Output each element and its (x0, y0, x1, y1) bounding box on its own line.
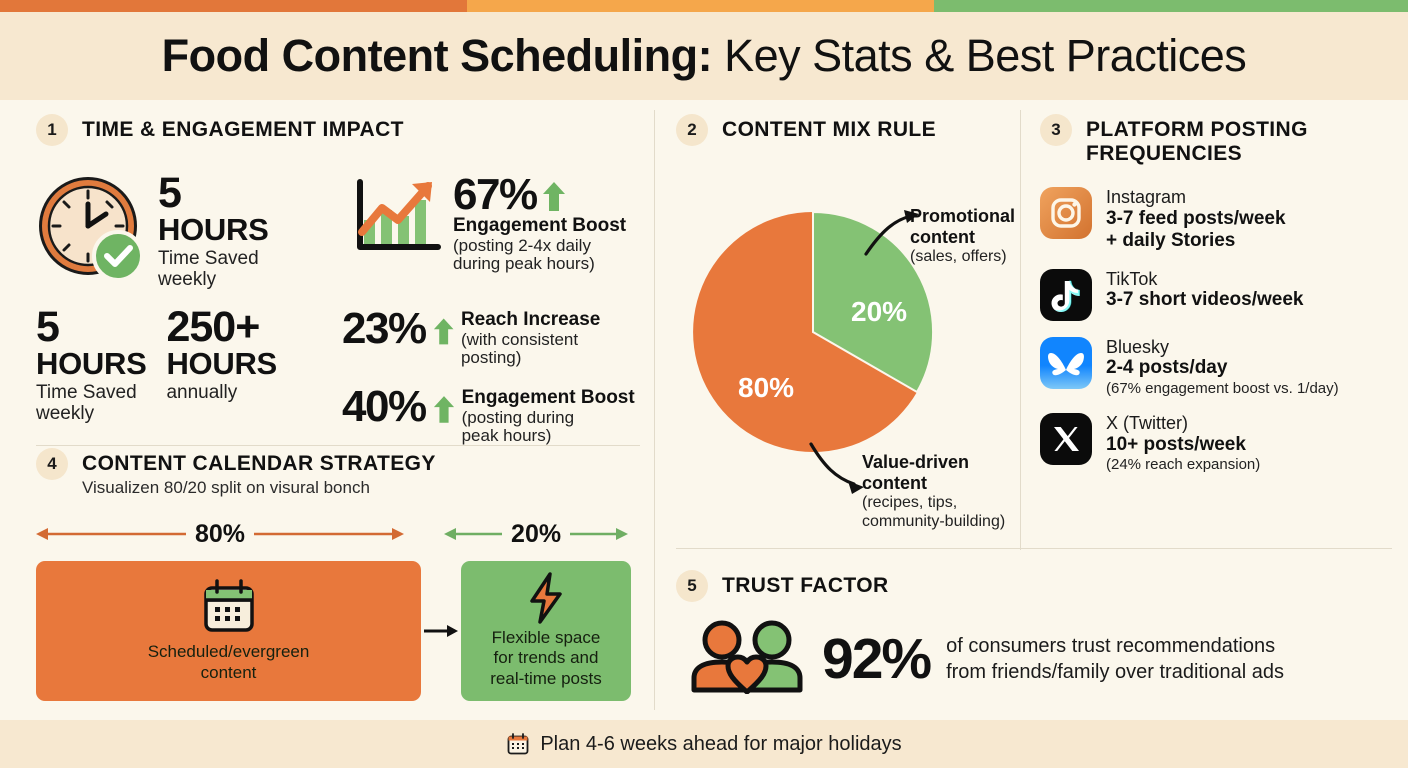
stat-40-note-l1: (posting during (462, 408, 574, 427)
growth-chart-icon (342, 174, 446, 260)
callout-promotional-note: (sales, offers) (910, 248, 1030, 266)
stat-number: 5 (158, 174, 268, 214)
stat-67-row: 67% Engagement Boost (posting 2-4x daily… (342, 174, 638, 273)
platform-note: (24% reach expansion) (1106, 456, 1260, 473)
stat-23-row: 23% Reach Increase (with consistent post… (342, 308, 638, 368)
stat-23-note: (with consistent posting) (461, 331, 638, 368)
footer-bar: Plan 4-6 weeks ahead for major holidays (0, 720, 1408, 768)
callout-value-l1: Value-driven (862, 452, 969, 472)
section2-badge: 2 (676, 114, 708, 146)
platform-name: Instagram (1106, 187, 1286, 208)
up-arrow-icon (433, 316, 454, 346)
stat-40-note-l2: peak hours) (462, 426, 552, 445)
section2-title: CONTENT MIX RULE (722, 114, 936, 142)
up-arrow-icon (542, 180, 566, 212)
platform-freq: 3-7 short videos/week (1106, 289, 1303, 311)
stat-67-note: (posting 2-4x daily during peak hours) (453, 237, 626, 274)
section-content-calendar: 4 CONTENT CALENDAR STRATEGY Visualizen 8… (36, 448, 640, 701)
callout-value-note-l2: community-building) (862, 513, 1005, 530)
platform-name: Bluesky (1106, 337, 1339, 358)
lightning-bolt-icon (524, 572, 568, 624)
up-arrow-icon (433, 394, 455, 424)
trust-percentage: 92% (822, 631, 930, 688)
pie-label-80: 80% (738, 372, 794, 404)
stat-hours-weekly: 5 HOURS Time Saved weekly (36, 308, 146, 424)
section5-badge: 5 (676, 570, 708, 602)
box-right-line3: real-time posts (490, 669, 601, 688)
footer-text: Plan 4-6 weeks ahead for major holidays (540, 733, 901, 756)
box-right-text: Flexible space for trends and real-time … (490, 628, 601, 689)
section1-row-bottom: 5 HOURS Time Saved weekly 250+ HOURS ann… (36, 308, 640, 445)
arrow-20-group: 20% (444, 520, 640, 549)
stat-40-label: Engagement Boost (462, 388, 635, 409)
callout-value-note-l1: (recipes, tips, (862, 494, 957, 511)
callout-value-driven: Value-driven content (recipes, tips, com… (862, 452, 1028, 531)
section3-title: PLATFORM POSTING FREQUENCIES (1086, 114, 1308, 165)
split-pct-80: 80% (186, 520, 254, 549)
trust-row: 92% of consumers trust recommendations f… (676, 620, 1392, 699)
x-twitter-icon (1040, 413, 1092, 465)
section1-header: 1 TIME & ENGAGEMENT IMPACT (36, 114, 640, 146)
platform-freq-l1: 3-7 feed posts/week (1106, 208, 1286, 229)
box-left-line1: Scheduled/evergreen (148, 642, 310, 661)
list-item[interactable]: Instagram 3-7 feed posts/week + daily St… (1040, 187, 1392, 253)
stat-desc-line1: Time Saved (158, 248, 259, 269)
arrow-left-orange-icon (36, 526, 186, 542)
clock-check-icon (36, 174, 154, 284)
stat-desc-line1: annually (166, 382, 237, 403)
box-left-text: Scheduled/evergreen content (148, 642, 310, 683)
stat-number: 5 (36, 308, 146, 348)
stat-desc: Time Saved weekly (158, 248, 268, 291)
divider-horizontal-right (676, 548, 1392, 549)
accent-segment-orange-light (467, 0, 934, 12)
platform-freq: 3-7 feed posts/week + daily Stories (1106, 208, 1286, 253)
box-right-line2: for trends and (494, 648, 599, 667)
platform-text: TikTok 3-7 short videos/week (1106, 269, 1303, 312)
bluesky-icon (1040, 337, 1092, 389)
instagram-icon (1040, 187, 1092, 239)
platform-list: Instagram 3-7 feed posts/week + daily St… (1040, 187, 1392, 473)
stat-40-text: Engagement Boost (posting during peak ho… (462, 386, 635, 446)
list-item[interactable]: Bluesky 2-4 posts/day (67% engagement bo… (1040, 337, 1392, 397)
stat-67-text: 67% Engagement Boost (posting 2-4x daily… (453, 174, 626, 273)
section3-title-l1: PLATFORM POSTING (1086, 118, 1308, 141)
section4-header: 4 CONTENT CALENDAR STRATEGY Visualizen 8… (36, 448, 640, 498)
stat-23-pct: 23% (342, 308, 426, 350)
arrow-right-green-icon (570, 526, 628, 542)
platform-freq: 2-4 posts/day (1106, 357, 1339, 379)
section3-header: 3 PLATFORM POSTING FREQUENCIES (1040, 114, 1392, 165)
stat-desc-line1: Time Saved (36, 382, 137, 403)
calendar-icon (200, 578, 258, 636)
stat-67-label: Engagement Boost (453, 216, 626, 237)
stat-unit: HOURS (158, 214, 268, 245)
divider-vertical-left (654, 110, 655, 710)
page-title-light: Key Stats & Best Practices (712, 30, 1246, 81)
top-accent-bar (0, 0, 1408, 12)
callout-value-note: (recipes, tips, community-building) (862, 494, 1028, 531)
split-pct-20: 20% (502, 520, 570, 549)
stat-23-text: Reach Increase (with consistent posting) (461, 308, 638, 368)
accent-segment-orange-dark (0, 0, 467, 12)
trust-desc-l1: of consumers trust recommendations (946, 635, 1275, 657)
pie-label-20: 20% (851, 296, 907, 328)
stat-hours-weekly-primary: 5 HOURS Time Saved weekly (158, 174, 268, 290)
tiktok-icon (1040, 269, 1092, 321)
section5-header: 5 TRUST FACTOR (676, 570, 1392, 602)
section-trust-factor: 5 TRUST FACTOR 92% of consumers trust re… (676, 570, 1392, 699)
stat-unit: HOURS (166, 348, 276, 379)
callout-value-l2: content (862, 473, 927, 493)
arrow-80-group: 80% (36, 520, 404, 549)
section3-badge: 3 (1040, 114, 1072, 146)
platform-freq: 10+ posts/week (1106, 434, 1260, 456)
list-item[interactable]: TikTok 3-7 short videos/week (1040, 269, 1392, 321)
platform-name: TikTok (1106, 269, 1303, 290)
section-time-engagement: 1 TIME & ENGAGEMENT IMPACT (36, 114, 640, 445)
section4-badge: 4 (36, 448, 68, 480)
platform-text: Bluesky 2-4 posts/day (67% engagement bo… (1106, 337, 1339, 397)
flow-arrow (421, 621, 461, 641)
stat-desc: annually (166, 382, 276, 403)
platform-name: X (Twitter) (1106, 413, 1260, 434)
list-item[interactable]: X (Twitter) 10+ posts/week (24% reach ex… (1040, 413, 1392, 473)
split-arrow-row: 80% 20% (36, 520, 640, 549)
people-heart-icon (688, 620, 806, 699)
section-platform-frequencies: 3 PLATFORM POSTING FREQUENCIES (1040, 114, 1392, 489)
section-content-mix: 2 CONTENT MIX RULE 20% 80% (676, 114, 1006, 534)
arrow-right-icon (424, 621, 458, 641)
engagement-boost-group: 67% Engagement Boost (posting 2-4x daily… (318, 174, 638, 290)
section2-header: 2 CONTENT MIX RULE (676, 114, 1006, 146)
platform-text: Instagram 3-7 feed posts/week + daily St… (1106, 187, 1286, 253)
stat-unit: HOURS (36, 348, 146, 379)
section1-title: TIME & ENGAGEMENT IMPACT (82, 114, 404, 142)
page-title-bold: Food Content Scheduling: (162, 30, 712, 81)
callout-promotional: Promotional content (sales, offers) (910, 206, 1030, 267)
box-left-line2: content (201, 663, 257, 682)
platform-text: X (Twitter) 10+ posts/week (24% reach ex… (1106, 413, 1260, 473)
platform-note: (67% engagement boost vs. 1/day) (1106, 380, 1339, 397)
callout-promotional-l2: content (910, 227, 975, 247)
trust-desc-l2: from friends/family over traditional ads (946, 661, 1284, 683)
page-title: Food Content Scheduling: Key Stats & Bes… (162, 30, 1247, 82)
calendar-icon (506, 732, 530, 756)
clock-stat-group: 5 HOURS Time Saved weekly (36, 174, 318, 290)
box-right-line1: Flexible space (492, 628, 601, 647)
stat-23-label: Reach Increase (461, 310, 638, 331)
section3-title-l2: FREQUENCIES (1086, 142, 1242, 165)
split-boxes-row: Scheduled/evergreen content Flexi (36, 561, 640, 701)
reach-engagement-group: 23% Reach Increase (with consistent post… (318, 308, 638, 445)
stat-desc-line2: weekly (158, 269, 216, 290)
arrow-left-green-icon (444, 526, 502, 542)
trust-description: of consumers trust recommendations from … (946, 634, 1284, 685)
box-flexible-space: Flexible space for trends and real-time … (461, 561, 631, 701)
pie-chart: 20% 80% Promotional content (sales, offe… (676, 154, 1016, 534)
section4-heading-text: CONTENT CALENDAR STRATEGY Visualizen 80/… (82, 448, 436, 498)
stat-desc: Time Saved weekly (36, 382, 146, 425)
stat-40-pct: 40% (342, 386, 426, 428)
section5-title: TRUST FACTOR (722, 570, 889, 598)
stat-67-pct: 67% (453, 174, 537, 216)
main-content: 1 TIME & ENGAGEMENT IMPACT (0, 100, 1408, 720)
stat-67-note-l1: (posting 2-4x daily (453, 236, 591, 255)
stat-hours-annual: 250+ HOURS annually (166, 308, 276, 424)
hours-stats-group: 5 HOURS Time Saved weekly 250+ HOURS ann… (36, 308, 318, 424)
stat-desc-line2: weekly (36, 403, 94, 424)
stat-40-note: (posting during peak hours) (462, 409, 635, 446)
section1-row-top: 5 HOURS Time Saved weekly (36, 174, 640, 290)
infographic-page: Food Content Scheduling: Key Stats & Bes… (0, 0, 1408, 768)
section4-title: CONTENT CALENDAR STRATEGY (82, 448, 436, 476)
title-band: Food Content Scheduling: Key Stats & Bes… (0, 12, 1408, 100)
section1-badge: 1 (36, 114, 68, 146)
stat-40-row: 40% Engagement Boost (posting during pea… (342, 386, 638, 446)
arrow-right-orange-icon (254, 526, 404, 542)
accent-segment-green (934, 0, 1408, 12)
stat-67-note-l2: during peak hours) (453, 254, 595, 273)
platform-freq-l2: + daily Stories (1106, 230, 1235, 251)
callout-promotional-l1: Promotional (910, 206, 1015, 226)
box-scheduled-content: Scheduled/evergreen content (36, 561, 421, 701)
section4-subtitle: Visualizen 80/20 split on visural bonch (82, 478, 436, 498)
stat-number: 250+ (166, 308, 276, 348)
